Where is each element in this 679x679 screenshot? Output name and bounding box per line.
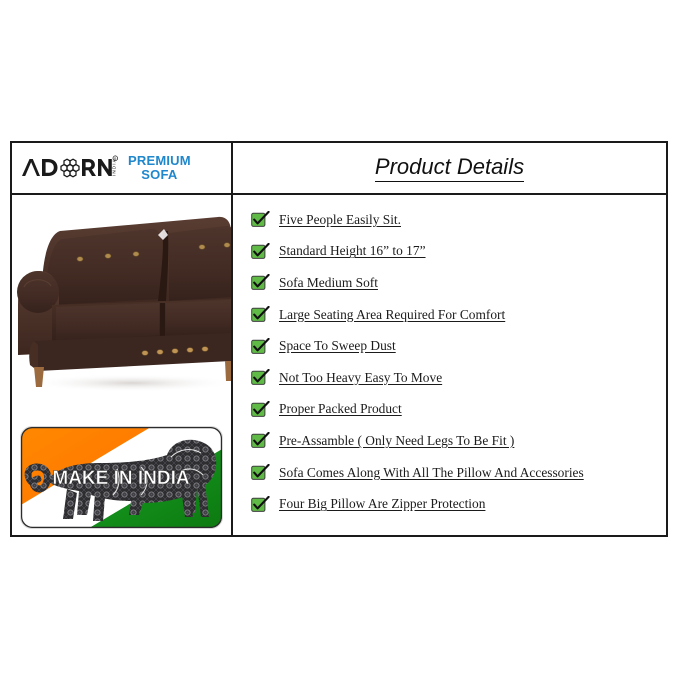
tagline-line-1: PREMIUM xyxy=(128,153,191,168)
product-details-card: INDIA R PREMIUM SOFA Product Details xyxy=(10,141,668,537)
page-title: Product Details xyxy=(375,154,524,182)
list-item-label: Standard Height 16” to 17” xyxy=(279,243,426,259)
list-item: Proper Packed Product xyxy=(251,394,666,426)
brand-cell: INDIA R PREMIUM SOFA xyxy=(12,143,231,193)
list-item: Sofa Medium Soft xyxy=(251,267,666,299)
check-icon xyxy=(251,211,270,228)
list-item: Sofa Comes Along With All The Pillow And… xyxy=(251,457,666,489)
sofa-illustration-icon xyxy=(12,195,231,417)
check-icon xyxy=(251,306,270,323)
product-details-title-cell: Product Details xyxy=(233,143,666,193)
list-item-label: Sofa Medium Soft xyxy=(279,275,378,291)
list-item: Standard Height 16” to 17” xyxy=(251,236,666,268)
list-item-label: Proper Packed Product xyxy=(279,401,402,417)
sofa-product-image xyxy=(12,195,231,417)
check-icon xyxy=(251,274,270,291)
product-details-image: INDIA R PREMIUM SOFA Product Details xyxy=(0,0,679,679)
premium-sofa-tagline: PREMIUM SOFA xyxy=(128,154,191,182)
check-icon xyxy=(251,338,270,355)
check-icon xyxy=(251,464,270,481)
list-item: Four Big Pillow Are Zipper Protection xyxy=(251,488,666,520)
list-item-label: Five People Easily Sit. xyxy=(279,212,401,228)
adorn-wordmark-icon: INDIA R xyxy=(20,153,118,183)
list-item-label: Four Big Pillow Are Zipper Protection xyxy=(279,496,485,512)
make-in-india-icon: MAKE IN INDIA xyxy=(21,427,222,528)
make-in-india-label: MAKE IN INDIA xyxy=(52,468,190,489)
list-item-label: Pre-Assamble ( Only Need Legs To Be Fit … xyxy=(279,433,514,449)
features-list: Five People Easily Sit. Standard Height … xyxy=(233,195,666,535)
adorn-logo: INDIA R PREMIUM SOFA xyxy=(20,153,191,183)
list-item: Pre-Assamble ( Only Need Legs To Be Fit … xyxy=(251,425,666,457)
media-column: MAKE IN INDIA xyxy=(12,195,231,535)
check-icon xyxy=(251,496,270,513)
list-item-label: Not Too Heavy Easy To Move xyxy=(279,370,442,386)
make-in-india-badge: MAKE IN INDIA xyxy=(20,426,223,529)
tagline-line-2: SOFA xyxy=(128,168,191,182)
check-icon xyxy=(251,432,270,449)
list-item-label: Sofa Comes Along With All The Pillow And… xyxy=(279,465,584,481)
list-item-label: Large Seating Area Required For Comfort xyxy=(279,307,505,323)
list-item: Not Too Heavy Easy To Move xyxy=(251,362,666,394)
check-icon xyxy=(251,243,270,260)
list-item: Space To Sweep Dust xyxy=(251,330,666,362)
check-icon xyxy=(251,369,270,386)
list-item: Large Seating Area Required For Comfort xyxy=(251,299,666,331)
list-item-label: Space To Sweep Dust xyxy=(279,338,396,354)
list-item: Five People Easily Sit. xyxy=(251,204,666,236)
check-icon xyxy=(251,401,270,418)
